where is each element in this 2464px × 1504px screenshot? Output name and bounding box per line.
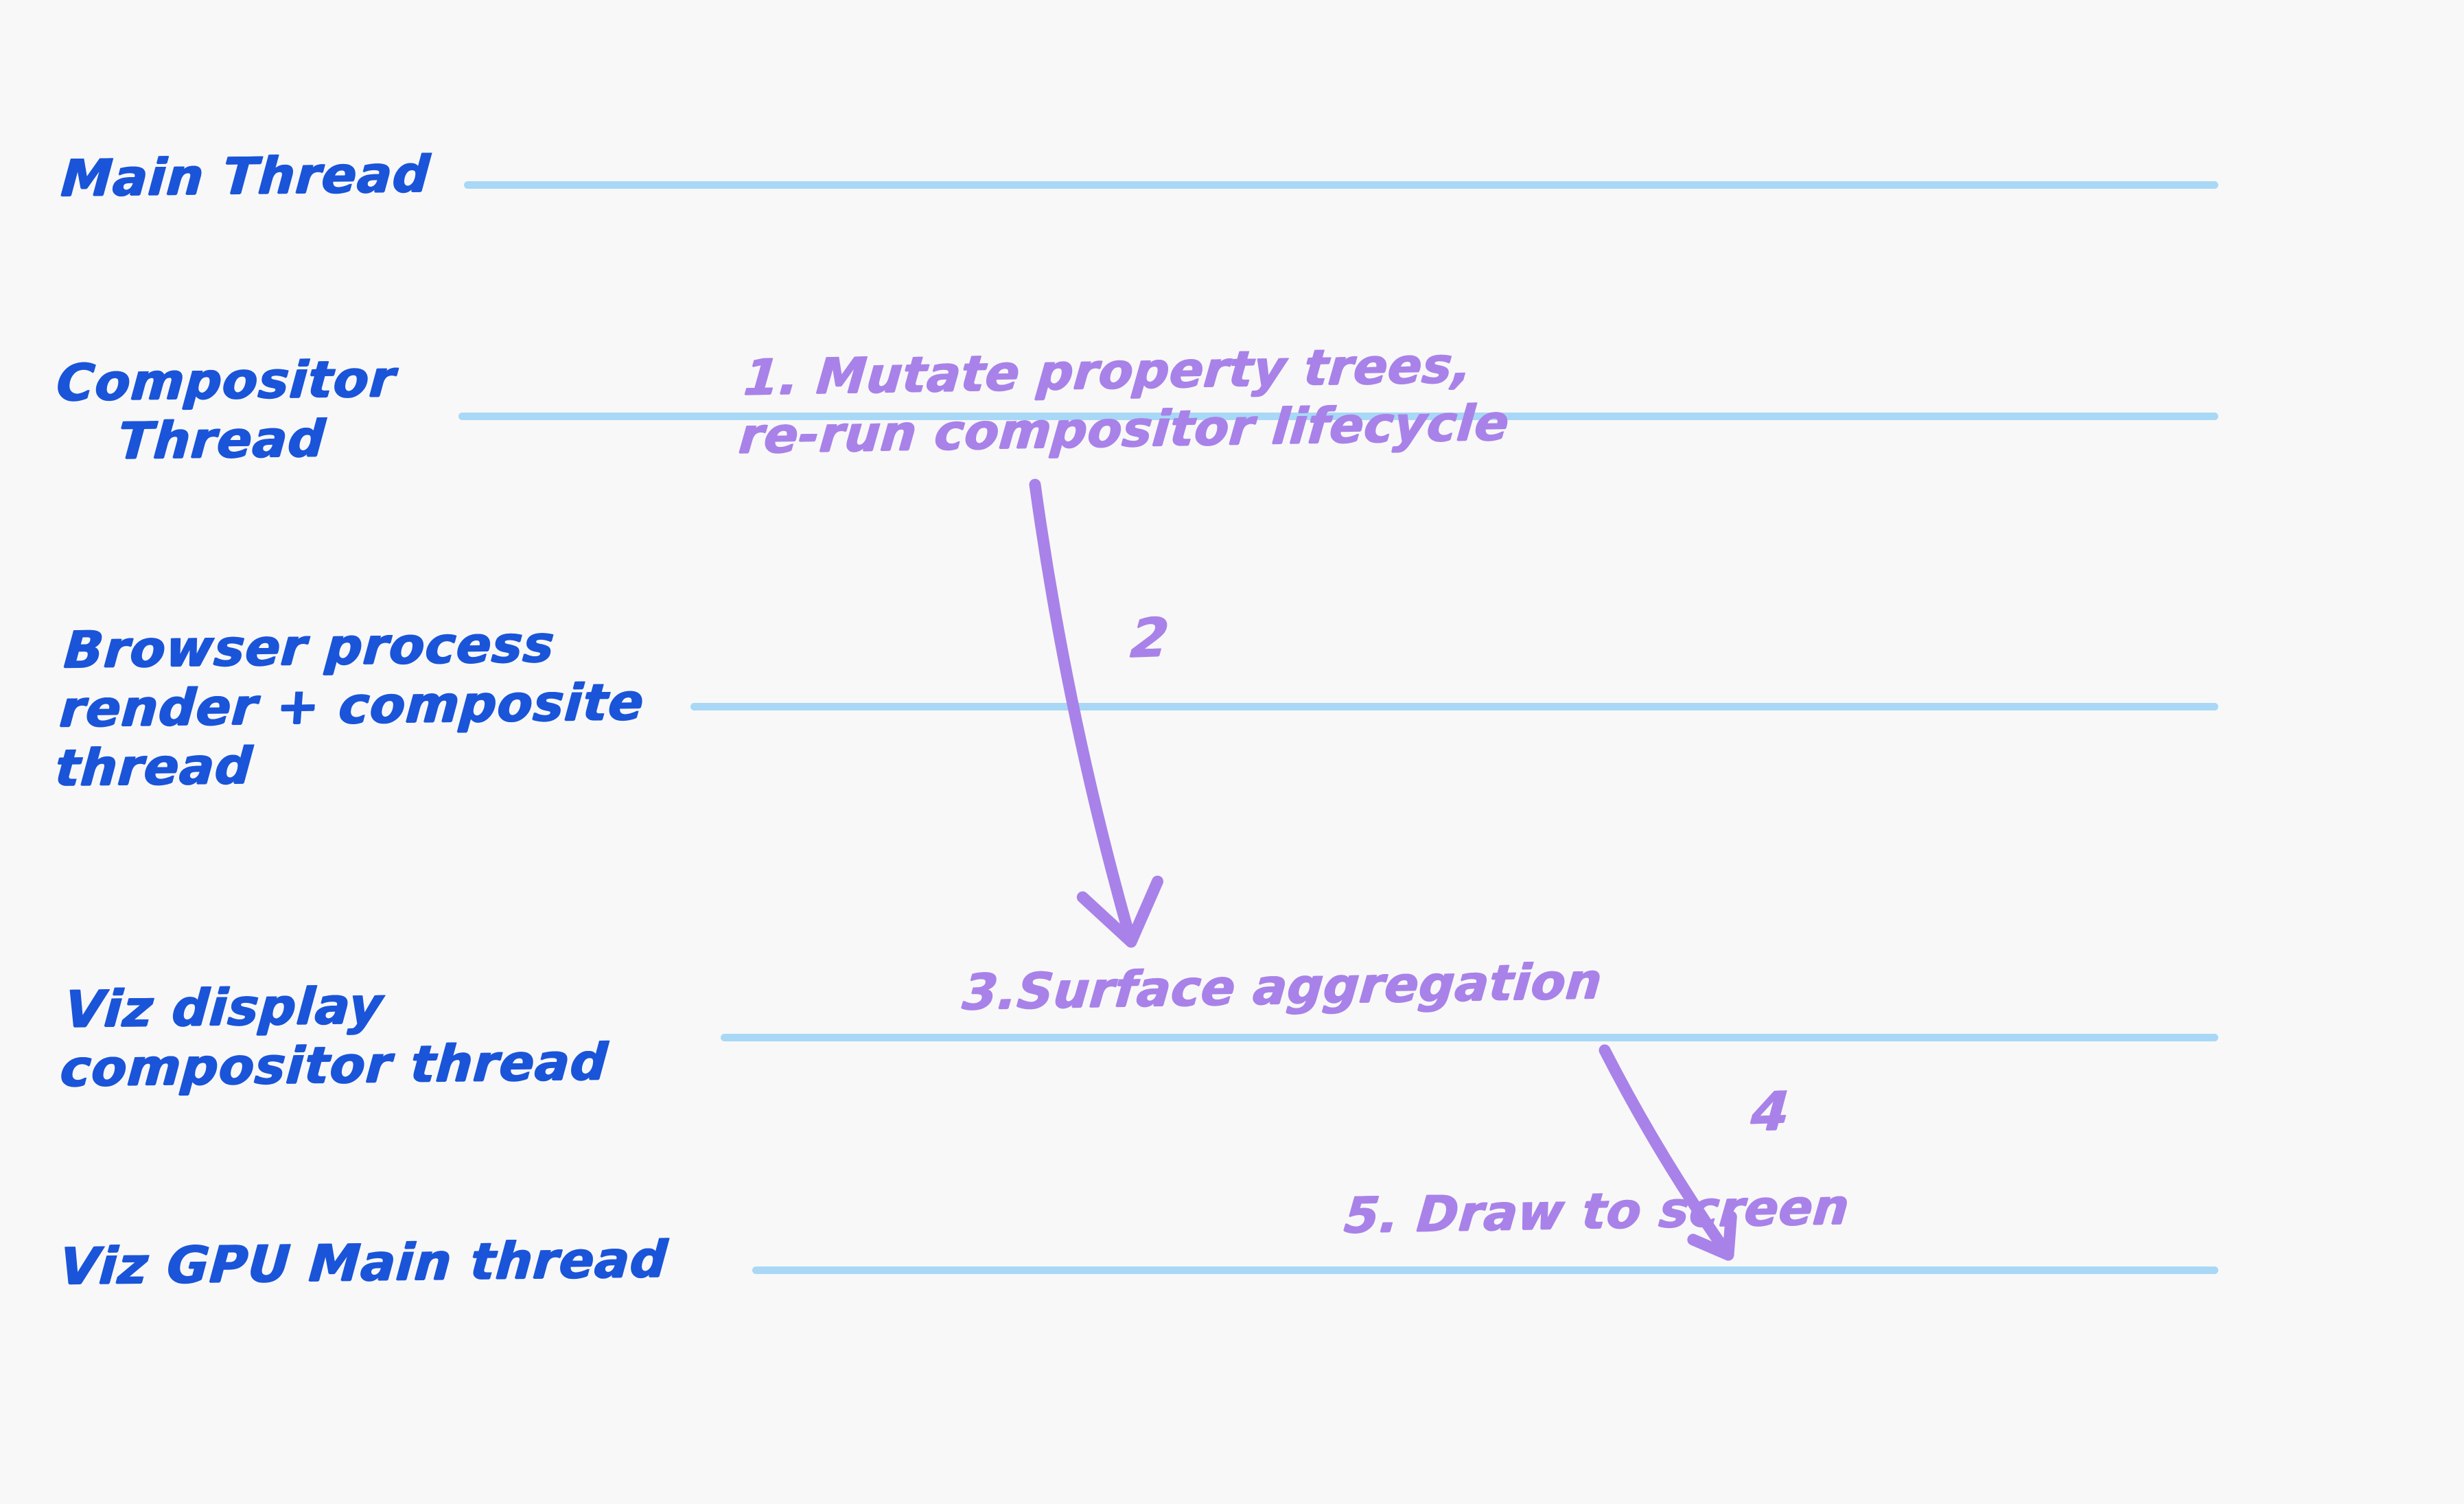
lane-label-line: Viz display — [63, 974, 615, 1040]
annotation-step-3-surface-aggregation: 3.Surface aggregation — [960, 952, 1605, 1021]
annotation-step-4-number: 4 — [1750, 1080, 1791, 1144]
lane-label-viz-gpu-main-thread: Viz GPU Main thread — [58, 1231, 670, 1297]
lane-label-line: Compositor — [55, 350, 398, 413]
annotation-step-5-draw-to-screen: 5. Draw to screen — [1343, 1178, 1852, 1245]
lane-line-browser-process-thread — [690, 703, 2218, 710]
lane-label-line: thread — [54, 732, 642, 798]
lane-label-browser-process-thread: Browser processrender + compositethread — [54, 614, 651, 798]
lane-label-line: Browser process — [62, 614, 651, 680]
lane-label-line: Viz GPU Main thread — [58, 1231, 670, 1297]
lane-label-viz-display-compositor-thread: Viz displaycompositor thread — [58, 974, 614, 1098]
lane-line-main-thread — [464, 181, 2218, 189]
lane-label-line: Main Thread — [60, 146, 433, 209]
lane-label-main-thread: Main Thread — [60, 146, 433, 209]
lane-label-line: compositor thread — [58, 1033, 610, 1099]
lane-label-line: Thread — [50, 409, 393, 472]
lane-line-viz-gpu-main-thread — [752, 1266, 2218, 1274]
diagram-canvas: Main Thread CompositorThread Browser pro… — [0, 0, 2464, 1504]
arrow-2-mutate-to-aggregation — [1035, 485, 1158, 942]
annotation-step-2-number: 2 — [1129, 607, 1171, 670]
lane-label-compositor-thread: CompositorThread — [50, 350, 398, 472]
lane-label-line: render + composite — [58, 673, 646, 739]
annotation-step-1-mutate-property-trees: 1. Mutate property trees, re-run composi… — [737, 335, 1518, 465]
arrow-2-head-icon — [1082, 881, 1157, 942]
arrow-2-shaft — [1035, 485, 1131, 942]
lane-line-viz-display-compositor-thread — [721, 1034, 2218, 1041]
